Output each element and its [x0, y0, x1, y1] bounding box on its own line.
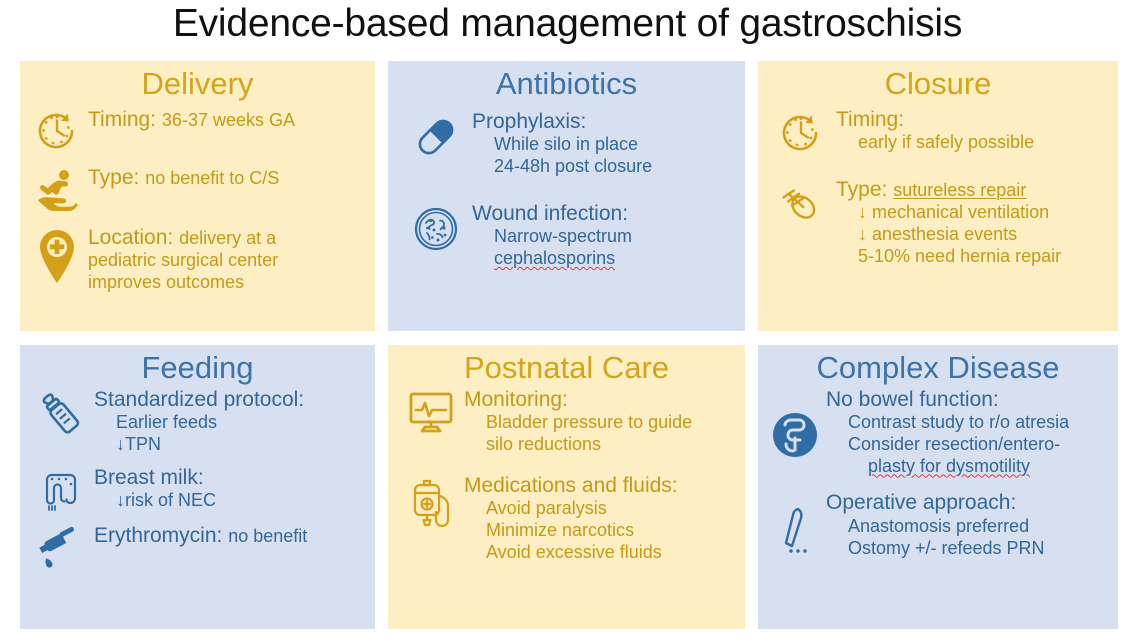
item-label: Breast milk:: [94, 466, 204, 489]
item-subline: Narrow-spectrum: [472, 226, 745, 248]
panel-title-antibiotics: Antibiotics: [388, 61, 745, 102]
panel-title-complex-disease: Complex Disease: [758, 345, 1118, 386]
dropper-pipette-icon: [20, 524, 94, 570]
list-item: Erythromycin: no benefit: [20, 524, 375, 570]
item-lead-line: Breast milk:: [94, 466, 375, 491]
item-subline: Avoid excessive fluids: [464, 542, 745, 564]
item-subline: While silo in place: [472, 134, 745, 156]
list-item: No bowel function: Contrast study to r/o…: [758, 388, 1118, 478]
list-item-text: Erythromycin: no benefit: [94, 524, 375, 549]
item-label: Operative approach:: [826, 491, 1016, 514]
list-item: Prophylaxis: While silo in place 24-48h …: [388, 110, 745, 178]
item-subline: Consider resection/entero-: [826, 434, 1118, 456]
list-item: Location: delivery at a pediatric surgic…: [20, 224, 375, 294]
clock-arrow-icon: [20, 106, 88, 154]
item-lead-line: Standardized protocol:: [94, 388, 375, 413]
list-item-text: Monitoring: Bladder pressure to guide si…: [464, 388, 745, 456]
postnatal-item-list: Monitoring: Bladder pressure to guide si…: [388, 388, 745, 564]
item-lead-line: Timing:: [836, 108, 1118, 133]
list-item-text: Wound infection: Narrow-spectrum cephalo…: [472, 202, 745, 270]
item-subline: pediatric surgical center: [88, 250, 375, 272]
list-item: Operative approach: Anastomosis preferre…: [758, 491, 1118, 559]
feeding-item-list: Standardized protocol: Earlier feeds ↓TP…: [20, 388, 375, 570]
panel-postnatal-care: Postnatal Care Monitoring: Bladder press…: [388, 345, 745, 629]
delivery-item-list: Timing: 36-37 weeks GA Type: n: [20, 106, 375, 294]
item-subline: early if safely possible: [836, 132, 1118, 154]
item-subline: plasty for dysmotility: [826, 456, 1118, 478]
item-lead-line: Erythromycin: no benefit: [94, 524, 375, 549]
vitals-monitor-icon: [388, 388, 464, 434]
item-subline: ↓ mechanical ventilation: [836, 202, 1118, 224]
item-label: Location:: [88, 226, 173, 249]
item-subline: Bladder pressure to guide: [464, 412, 745, 434]
item-lead-line: Prophylaxis:: [472, 110, 745, 135]
item-value: 36-37 weeks GA: [162, 110, 295, 130]
item-subline: ↓ anesthesia events: [836, 224, 1118, 246]
item-value: no benefit to C/S: [145, 168, 279, 188]
item-subline: Earlier feeds: [94, 412, 375, 434]
panel-closure: Closure: [758, 61, 1118, 331]
clock-arrow-icon: [758, 108, 836, 156]
complex-item-list: No bowel function: Contrast study to r/o…: [758, 388, 1118, 560]
panel-title-delivery: Delivery: [20, 61, 375, 102]
item-label: Erythromycin:: [94, 524, 222, 547]
list-item-text: Breast milk: ↓risk of NEC: [94, 466, 375, 512]
item-label: Standardized protocol:: [94, 388, 304, 411]
baby-in-hands-icon: [20, 164, 88, 214]
list-item-text: Location: delivery at a pediatric surgic…: [88, 224, 375, 294]
list-item-text: No bowel function: Contrast study to r/o…: [826, 388, 1118, 478]
location-pin-medical-icon: [20, 224, 88, 286]
page-title: Evidence-based management of gastroschis…: [0, 2, 1135, 46]
list-item: Type: no benefit to C/S: [20, 164, 375, 214]
pill-capsule-icon: [388, 110, 472, 160]
item-subline: Avoid paralysis: [464, 498, 745, 520]
item-lead-line: Monitoring:: [464, 388, 745, 413]
list-item: Monitoring: Bladder pressure to guide si…: [388, 388, 745, 456]
list-item: Medications and fluids: Avoid paralysis …: [388, 474, 745, 564]
item-lead-line: Medications and fluids:: [464, 474, 745, 499]
list-item: Standardized protocol: Earlier feeds ↓TP…: [20, 388, 375, 456]
item-lead-line: Type: no benefit to C/S: [88, 166, 375, 191]
item-lead-line: Operative approach:: [826, 491, 1118, 516]
item-subline: ↓risk of NEC: [94, 490, 375, 512]
item-lead-line: Type: sutureless repair: [836, 178, 1118, 203]
list-item-text: Standardized protocol: Earlier feeds ↓TP…: [94, 388, 375, 456]
list-item-text: Timing: 36-37 weeks GA: [88, 106, 375, 133]
item-label: Prophylaxis:: [472, 110, 586, 133]
list-item: Timing: 36-37 weeks GA: [20, 106, 375, 154]
item-subline: Ostomy +/- refeeds PRN: [826, 538, 1118, 560]
item-subline: Anastomosis preferred: [826, 516, 1118, 538]
item-subline: improves outcomes: [88, 272, 375, 294]
item-subline: ↓TPN: [94, 434, 375, 456]
item-label: Type:: [836, 178, 887, 201]
item-subline: Minimize narcotics: [464, 520, 745, 542]
item-lead-line: Wound infection:: [472, 202, 745, 227]
panel-title-postnatal-care: Postnatal Care: [388, 345, 745, 386]
item-label: Wound infection:: [472, 202, 628, 225]
list-item: Type: sutureless repair ↓ mechanical ven…: [758, 178, 1118, 268]
item-subline: Contrast study to r/o atresia: [826, 412, 1118, 434]
intestine-outline-icon: [20, 466, 94, 514]
closure-item-list: Timing: early if safely possible: [758, 108, 1118, 268]
list-item-text: Operative approach: Anastomosis preferre…: [826, 491, 1118, 559]
iv-drip-bag-icon: [388, 474, 464, 532]
panel-antibiotics: Antibiotics Prophylaxis: While silo in: [388, 61, 745, 331]
item-lead-line: Location: delivery at a: [88, 226, 375, 251]
baby-bottle-icon: [20, 388, 94, 438]
list-item: Timing: early if safely possible: [758, 108, 1118, 156]
item-label: Timing:: [836, 108, 904, 131]
list-item: Wound infection: Narrow-spectrum cephalo…: [388, 202, 745, 270]
item-subline: 24-48h post closure: [472, 156, 745, 178]
item-lead-line: Timing: 36-37 weeks GA: [88, 108, 375, 133]
item-value: no benefit: [228, 526, 307, 546]
list-item-text: Prophylaxis: While silo in place 24-48h …: [472, 110, 745, 178]
intestine-filled-circle-icon: [758, 388, 826, 460]
list-item-text: Type: sutureless repair ↓ mechanical ven…: [836, 178, 1118, 268]
panel-complex-disease: Complex Disease No bowel functi: [758, 345, 1118, 629]
antibiotics-item-list: Prophylaxis: While silo in place 24-48h …: [388, 110, 745, 270]
suture-stitches-icon: [758, 178, 836, 230]
item-subline: silo reductions: [464, 434, 745, 456]
item-value: sutureless repair: [893, 180, 1026, 200]
list-item-text: Type: no benefit to C/S: [88, 164, 375, 191]
scalpel-icon: [758, 491, 826, 557]
panel-title-closure: Closure: [758, 61, 1118, 102]
item-subline: cephalosporins: [472, 248, 745, 270]
panel-title-feeding: Feeding: [20, 345, 375, 386]
item-label: Monitoring:: [464, 388, 568, 411]
list-item-text: Timing: early if safely possible: [836, 108, 1118, 154]
panel-delivery: Delivery: [20, 61, 375, 331]
item-lead-line: No bowel function:: [826, 388, 1118, 413]
panel-feeding: Feeding Standardized protocol: [20, 345, 375, 629]
bacteria-petri-dish-icon: [388, 202, 472, 252]
list-item: Breast milk: ↓risk of NEC: [20, 466, 375, 514]
item-label: Type:: [88, 166, 139, 189]
list-item-text: Medications and fluids: Avoid paralysis …: [464, 474, 745, 564]
item-value: delivery at a: [179, 228, 276, 248]
item-label: Timing:: [88, 108, 156, 131]
item-label: Medications and fluids:: [464, 474, 678, 497]
item-subline: 5-10% need hernia repair: [836, 246, 1118, 268]
item-label: No bowel function:: [826, 388, 999, 411]
panel-grid: Delivery: [20, 61, 1118, 629]
